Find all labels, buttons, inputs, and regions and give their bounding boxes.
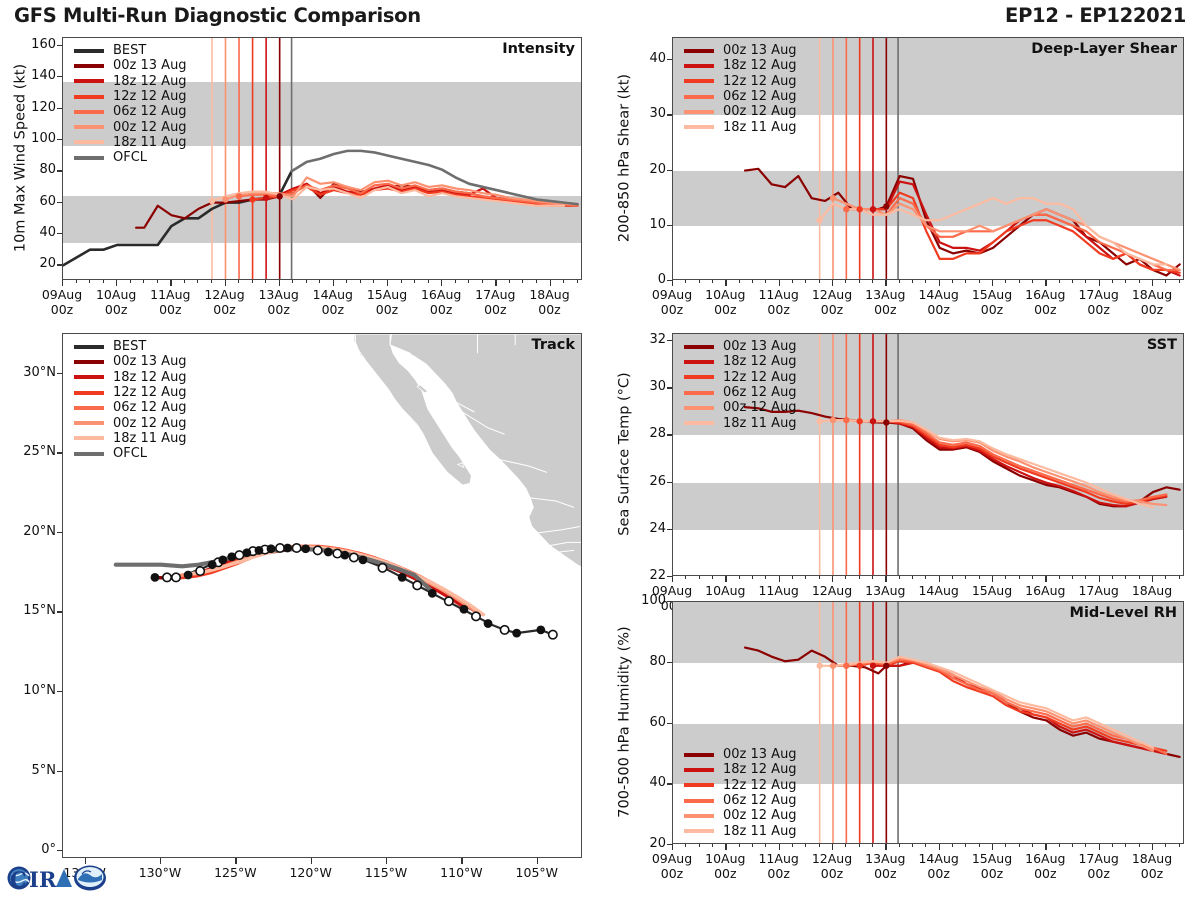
lon-tick-label: 125°W — [200, 866, 270, 881]
x-minor-tick — [699, 844, 700, 847]
x-minor-tick — [912, 576, 913, 579]
x-tick-mark — [885, 576, 886, 582]
x-tick-mark — [725, 280, 726, 286]
init-marker — [816, 663, 822, 669]
track-point-filled — [340, 551, 349, 560]
x-tick-mark — [725, 844, 726, 850]
legend-swatch — [74, 360, 104, 364]
legend-label: 18z 12 Aug — [113, 370, 187, 385]
y-tick-mark — [667, 114, 672, 115]
x-tick-mark — [885, 844, 886, 850]
legend-item[interactable]: 18z 12 Aug — [74, 74, 187, 89]
y-tick-mark — [667, 662, 672, 663]
page-title-right: EP12 - EP122021 — [1005, 4, 1186, 27]
y-tick-mark — [667, 340, 672, 341]
lon-tick-label: 105°W — [502, 866, 572, 881]
x-minor-tick — [712, 844, 713, 847]
x-tick-mark — [62, 280, 63, 286]
track-point-filled — [242, 548, 251, 557]
x-minor-tick — [1072, 576, 1073, 579]
x-minor-tick — [912, 844, 913, 847]
legend-label: 00z 13 Aug — [113, 354, 187, 369]
y-tick-label: 30 — [622, 379, 666, 394]
init-marker — [209, 198, 215, 204]
init-marker — [870, 663, 876, 669]
track-point-open — [333, 549, 341, 557]
legend-item[interactable]: 06z 12 Aug — [74, 104, 187, 119]
x-tick-mark — [939, 844, 940, 850]
track-line — [170, 546, 468, 605]
x-minor-tick — [739, 576, 740, 579]
legend-swatch — [684, 95, 714, 99]
legend-label: 00z 13 Aug — [723, 339, 797, 354]
legend-label: 00z 13 Aug — [113, 58, 187, 73]
series-line — [292, 151, 578, 204]
y-tick-label: 22 — [622, 568, 666, 583]
x-minor-tick — [563, 280, 564, 283]
x-minor-tick — [859, 280, 860, 283]
x-minor-tick — [1165, 576, 1166, 579]
panel-track: Track0°5°N10°N15°N20°N25°N30°N135°W130°W… — [62, 333, 582, 858]
y-axis-label-shear: 200-850 hPa Shear (kt) — [616, 36, 632, 279]
x-tick-label: 18Aug00z — [1117, 288, 1187, 318]
x-minor-tick — [752, 844, 753, 847]
init-marker — [830, 195, 836, 201]
panel-title-sst: SST — [1147, 337, 1177, 353]
x-minor-tick — [845, 576, 846, 579]
init-marker — [276, 193, 282, 199]
init-marker — [843, 663, 849, 669]
x-minor-tick — [765, 844, 766, 847]
x-minor-tick — [306, 280, 307, 283]
init-marker — [830, 417, 836, 423]
x-minor-tick — [805, 844, 806, 847]
legend-swatch — [684, 768, 714, 772]
x-minor-tick — [979, 844, 980, 847]
legend-item[interactable]: 18z 11 Aug — [684, 823, 797, 838]
legend-swatch — [684, 814, 714, 818]
track-point-open — [235, 551, 243, 559]
y-tick-label: 40 — [12, 225, 56, 240]
y-tick-mark — [57, 170, 62, 171]
x-tick-mark — [170, 280, 171, 286]
x-minor-tick — [819, 576, 820, 579]
legend-swatch — [684, 110, 714, 114]
track-point-filled — [227, 552, 236, 561]
x-minor-tick — [1005, 280, 1006, 283]
init-marker — [856, 663, 862, 669]
legend-item[interactable]: 06z 12 Aug — [684, 385, 797, 400]
legend-item[interactable]: 18z 11 Aug — [74, 135, 187, 150]
legend-item[interactable]: 06z 12 Aug — [74, 400, 187, 415]
y-tick-mark — [667, 59, 672, 60]
x-tick-mark — [672, 576, 673, 582]
x-minor-tick — [752, 576, 753, 579]
x-minor-tick — [685, 280, 686, 283]
track-point-filled — [208, 560, 217, 569]
legend-swatch — [684, 79, 714, 83]
x-minor-tick — [211, 280, 212, 283]
legend-label: OFCL — [113, 150, 147, 165]
x-tick-mark — [1152, 280, 1153, 286]
x-minor-tick — [1112, 280, 1113, 283]
x-minor-tick — [1059, 280, 1060, 283]
legend-label: 06z 12 Aug — [723, 385, 797, 400]
track-point-filled — [255, 546, 264, 555]
x-tick-mark — [279, 280, 280, 286]
legend-item[interactable]: 18z 11 Aug — [74, 431, 187, 446]
legend-label: 18z 11 Aug — [113, 135, 187, 150]
legend-item[interactable]: 18z 11 Aug — [684, 415, 797, 430]
lat-tick-mark — [57, 691, 62, 692]
legend-item[interactable]: 00z 12 Aug — [74, 119, 187, 134]
x-minor-tick — [1165, 844, 1166, 847]
legend-item[interactable]: OFCL — [74, 446, 187, 461]
panel-shear: Deep-Layer Shear200-850 hPa Shear (kt)01… — [672, 37, 1184, 280]
legend-swatch — [684, 49, 714, 53]
legend-swatch — [74, 406, 104, 410]
y-tick-label: 60 — [12, 194, 56, 209]
legend-item[interactable]: 00z 12 Aug — [684, 808, 797, 823]
x-minor-tick — [739, 844, 740, 847]
legend-label: 00z 13 Aug — [723, 747, 797, 762]
x-minor-tick — [765, 576, 766, 579]
x-tick-mark — [116, 280, 117, 286]
legend-label: 00z 12 Aug — [113, 416, 187, 431]
x-minor-tick — [1059, 576, 1060, 579]
legend-label: 18z 12 Aug — [723, 58, 797, 73]
x-tick-mark — [779, 844, 780, 850]
init-marker — [856, 418, 862, 424]
x-minor-tick — [1032, 844, 1033, 847]
legend-item[interactable]: 12z 12 Aug — [684, 370, 797, 385]
x-minor-tick — [792, 280, 793, 283]
lat-tick-mark — [57, 373, 62, 374]
legend-swatch — [74, 125, 104, 129]
x-minor-tick — [76, 280, 77, 283]
legend-item[interactable]: BEST — [74, 43, 187, 58]
lon-tick-mark — [311, 858, 312, 864]
legend-label: 00z 13 Aug — [723, 43, 797, 58]
legend-label: 18z 12 Aug — [113, 74, 187, 89]
legend-label: 06z 12 Aug — [113, 400, 187, 415]
legend-swatch — [684, 125, 714, 129]
x-minor-tick — [1019, 576, 1020, 579]
x-tick-mark — [1099, 280, 1100, 286]
legend-swatch — [684, 421, 714, 425]
x-minor-tick — [401, 280, 402, 283]
panel-intensity: Intensity10m Max Wind Speed (kt)20406080… — [62, 37, 582, 280]
x-minor-tick — [414, 280, 415, 283]
x-minor-tick — [1005, 844, 1006, 847]
panel-title-shear: Deep-Layer Shear — [1031, 41, 1177, 57]
y-tick-mark — [57, 139, 62, 140]
y-tick-mark — [667, 783, 672, 784]
x-tick-mark — [779, 576, 780, 582]
legend-item[interactable]: 12z 12 Aug — [684, 778, 797, 793]
x-minor-tick — [1072, 844, 1073, 847]
x-minor-tick — [577, 280, 578, 283]
legend-swatch — [74, 156, 104, 160]
init-marker — [816, 418, 822, 424]
legend-swatch — [74, 452, 104, 456]
legend-label: 12z 12 Aug — [723, 778, 797, 793]
track-point-filled — [151, 573, 160, 582]
y-tick-mark — [57, 45, 62, 46]
x-minor-tick — [1125, 280, 1126, 283]
x-tick-mark — [225, 280, 226, 286]
legend-item[interactable]: OFCL — [74, 150, 187, 165]
lat-tick-mark — [57, 850, 62, 851]
legend-item[interactable]: 18z 11 Aug — [684, 119, 797, 134]
lat-tick-label: 25°N — [4, 444, 56, 459]
legend-item[interactable]: 00z 13 Aug — [684, 747, 797, 762]
y-tick-label: 100 — [622, 593, 666, 608]
x-minor-tick — [1125, 576, 1126, 579]
lat-tick-mark — [57, 611, 62, 612]
x-minor-tick — [899, 844, 900, 847]
legend-item[interactable]: 00z 13 Aug — [684, 43, 797, 58]
track-point-filled — [484, 619, 493, 628]
y-tick-label: 160 — [12, 37, 56, 52]
y-tick-mark — [667, 387, 672, 388]
legend-swatch — [684, 799, 714, 803]
cira-logo: C I R — [4, 858, 108, 898]
legend-item[interactable]: 00z 13 Aug — [74, 58, 187, 73]
legend-label: 00z 12 Aug — [723, 400, 797, 415]
x-minor-tick — [1139, 576, 1140, 579]
x-minor-tick — [979, 576, 980, 579]
legend-item[interactable]: 18z 12 Aug — [684, 762, 797, 777]
x-minor-tick — [952, 844, 953, 847]
y-tick-label: 20 — [622, 162, 666, 177]
x-minor-tick — [536, 280, 537, 283]
x-minor-tick — [859, 844, 860, 847]
init-marker — [263, 195, 269, 201]
x-minor-tick — [1032, 576, 1033, 579]
x-minor-tick — [712, 576, 713, 579]
track-point-filled — [536, 626, 545, 635]
x-minor-tick — [965, 280, 966, 283]
legend-swatch — [684, 375, 714, 379]
legend-swatch — [74, 64, 104, 68]
series-line — [860, 193, 1180, 273]
x-tick-mark — [939, 280, 940, 286]
svg-text:C: C — [10, 867, 27, 892]
track-point-filled — [267, 544, 276, 553]
legend-label: 18z 11 Aug — [723, 120, 797, 135]
legend-swatch — [684, 64, 714, 68]
x-minor-tick — [765, 280, 766, 283]
y-tick-label: 100 — [12, 131, 56, 146]
track-point-open — [172, 573, 180, 581]
init-marker — [883, 203, 889, 209]
track-point-filled — [218, 556, 227, 565]
legend-label: OFCL — [113, 446, 147, 461]
x-tick-mark — [725, 576, 726, 582]
init-marker — [870, 418, 876, 424]
init-marker — [843, 206, 849, 212]
legend-swatch — [74, 421, 104, 425]
x-minor-tick — [1005, 576, 1006, 579]
legend-label: 18z 11 Aug — [723, 416, 797, 431]
x-minor-tick — [872, 280, 873, 283]
lon-tick-label: 115°W — [351, 866, 421, 881]
x-minor-tick — [1139, 280, 1140, 283]
init-marker — [236, 193, 242, 199]
y-tick-mark — [667, 529, 672, 530]
x-minor-tick — [455, 280, 456, 283]
lon-tick-label: 130°W — [125, 866, 195, 881]
lat-tick-label: 5°N — [4, 763, 56, 778]
legend-item[interactable]: 00z 12 Aug — [74, 415, 187, 430]
y-tick-label: 60 — [622, 715, 666, 730]
track-point-filled — [512, 629, 521, 638]
y-tick-mark — [57, 264, 62, 265]
x-minor-tick — [752, 280, 753, 283]
x-minor-tick — [1179, 280, 1180, 283]
track-point-open — [500, 626, 508, 634]
x-tick-mark — [1045, 844, 1046, 850]
legend-label: 18z 11 Aug — [723, 824, 797, 839]
x-minor-tick — [468, 280, 469, 283]
x-tick-mark — [1152, 844, 1153, 850]
track-point-open — [276, 544, 284, 552]
x-tick-mark — [832, 576, 833, 582]
legend-swatch — [684, 783, 714, 787]
x-minor-tick — [319, 280, 320, 283]
x-tick-mark — [939, 576, 940, 582]
y-tick-label: 30 — [622, 106, 666, 121]
legend-item[interactable]: 18z 12 Aug — [684, 58, 797, 73]
legend-swatch — [74, 345, 104, 349]
legend-item[interactable]: BEST — [74, 339, 187, 354]
lat-tick-label: 30°N — [4, 365, 56, 380]
x-tick-mark — [832, 844, 833, 850]
legend-label: 12z 12 Aug — [113, 89, 187, 104]
legend-swatch — [684, 360, 714, 364]
page-title-left: GFS Multi-Run Diagnostic Comparison — [14, 4, 421, 27]
x-tick-mark — [1099, 576, 1100, 582]
x-minor-tick — [509, 280, 510, 283]
legend-item[interactable]: 18z 12 Aug — [684, 354, 797, 369]
x-minor-tick — [1072, 280, 1073, 283]
legend-label: BEST — [113, 43, 146, 58]
x-minor-tick — [1179, 576, 1180, 579]
x-minor-tick — [872, 844, 873, 847]
legend-label: 06z 12 Aug — [723, 793, 797, 808]
y-tick-label: 32 — [622, 332, 666, 347]
panel-rh: Mid-Level RH700-500 hPa Humidity (%)2040… — [672, 601, 1184, 844]
x-minor-tick — [819, 280, 820, 283]
x-minor-tick — [712, 280, 713, 283]
x-minor-tick — [1019, 280, 1020, 283]
y-tick-label: 28 — [622, 426, 666, 441]
x-minor-tick — [1032, 280, 1033, 283]
panel-title-rh: Mid-Level RH — [1070, 605, 1177, 621]
x-minor-tick — [184, 280, 185, 283]
series-line — [136, 184, 577, 228]
x-minor-tick — [1085, 280, 1086, 283]
legend-swatch — [74, 436, 104, 440]
x-tick-mark — [441, 280, 442, 286]
legend-item[interactable]: 12z 12 Aug — [74, 89, 187, 104]
lat-tick-label: 0° — [4, 842, 56, 857]
legend: 00z 13 Aug18z 12 Aug12z 12 Aug06z 12 Aug… — [684, 747, 797, 839]
x-tick-mark — [550, 280, 551, 286]
lon-tick-mark — [235, 858, 236, 864]
x-tick-mark — [333, 280, 334, 286]
x-minor-tick — [739, 280, 740, 283]
legend-label: 12z 12 Aug — [723, 370, 797, 385]
legend-item[interactable]: 00z 12 Aug — [684, 104, 797, 119]
init-marker — [883, 419, 889, 425]
legend-swatch — [74, 140, 104, 144]
x-minor-tick — [899, 576, 900, 579]
x-minor-tick — [1125, 844, 1126, 847]
y-tick-label: 80 — [12, 162, 56, 177]
x-minor-tick — [965, 576, 966, 579]
x-tick-mark — [992, 280, 993, 286]
y-tick-label: 0 — [622, 272, 666, 287]
legend-item[interactable]: 00z 12 Aug — [684, 400, 797, 415]
legend-item[interactable]: 12z 12 Aug — [74, 385, 187, 400]
x-tick-mark — [885, 280, 886, 286]
x-minor-tick — [845, 844, 846, 847]
x-minor-tick — [805, 576, 806, 579]
track-point-filled — [324, 548, 333, 557]
legend-item[interactable]: 00z 13 Aug — [74, 354, 187, 369]
y-tick-label: 140 — [12, 68, 56, 83]
legend-item[interactable]: 12z 12 Aug — [684, 74, 797, 89]
init-marker — [883, 663, 889, 669]
track-point-open — [413, 581, 421, 589]
x-minor-tick — [130, 280, 131, 283]
init-marker — [856, 206, 862, 212]
x-minor-tick — [482, 280, 483, 283]
track-point-open — [350, 553, 358, 561]
x-minor-tick — [1085, 576, 1086, 579]
series-line — [873, 421, 1166, 506]
init-marker — [843, 417, 849, 423]
series-line — [846, 198, 1179, 270]
track-point-filled — [428, 589, 437, 598]
lat-tick-label: 15°N — [4, 603, 56, 618]
lat-tick-mark — [57, 771, 62, 772]
legend-label: 12z 12 Aug — [113, 385, 187, 400]
legend-item[interactable]: 06z 12 Aug — [684, 793, 797, 808]
legend-item[interactable]: 00z 13 Aug — [684, 339, 797, 354]
x-minor-tick — [912, 280, 913, 283]
legend-label: 06z 12 Aug — [113, 104, 187, 119]
x-minor-tick — [252, 280, 253, 283]
lon-tick-label: 120°W — [276, 866, 346, 881]
lat-tick-label: 20°N — [4, 524, 56, 539]
x-minor-tick — [1165, 280, 1166, 283]
legend-item[interactable]: 06z 12 Aug — [684, 89, 797, 104]
legend-item[interactable]: 18z 12 Aug — [74, 370, 187, 385]
track-point-filled — [460, 605, 469, 614]
track-point-open — [472, 612, 480, 620]
track-point-open — [196, 567, 204, 575]
legend-swatch — [684, 406, 714, 410]
y-tick-mark — [667, 434, 672, 435]
panel-title-intensity: Intensity — [502, 41, 575, 57]
x-minor-tick — [899, 280, 900, 283]
legend-swatch — [684, 753, 714, 757]
x-tick-mark — [992, 576, 993, 582]
y-tick-mark — [667, 225, 672, 226]
